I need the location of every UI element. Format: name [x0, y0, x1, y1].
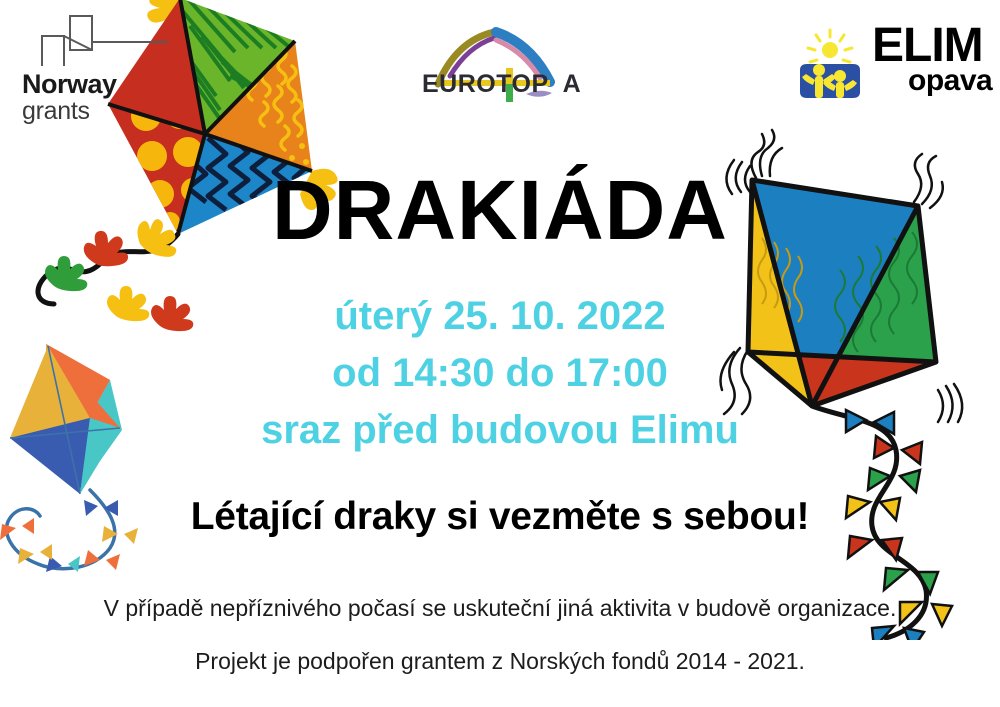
eurotopia-wordmark: EUROTOPA — [422, 70, 581, 99]
logo-elim-opava: ELIM opava — [792, 26, 982, 112]
eurotopia-wordmark-text: EUROTOP — [422, 70, 549, 98]
elim-wordmark: ELIM — [872, 22, 983, 70]
norway-grants-subtitle: grants — [22, 98, 182, 126]
bring-kites-notice: Létající draky si vezměte s sebou! — [0, 497, 1000, 536]
page-title: DRAKIÁDA — [0, 168, 1000, 252]
event-details: úterý 25. 10. 2022 od 14:30 do 17:00 sra… — [0, 288, 1000, 458]
logo-norway-grants: Norway grants — [22, 14, 182, 126]
elim-subtitle: opava — [908, 66, 992, 96]
weather-note: V případě nepříznivého počasí se uskuteč… — [0, 597, 1000, 620]
event-date: úterý 25. 10. 2022 — [0, 288, 1000, 345]
event-place: sraz před budovou Elimu — [0, 402, 1000, 459]
poster-canvas: Norway grants EUROTOPA — [0, 0, 1000, 707]
norway-grants-n-mark — [22, 14, 172, 66]
funding-note: Projekt je podpořen grantem z Norských f… — [0, 650, 1000, 673]
elim-sun-people-mark — [792, 26, 868, 102]
logo-eurotopia: EUROTOPA — [420, 22, 580, 112]
event-time: od 14:30 do 17:00 — [0, 345, 1000, 402]
eurotopia-wordmark-tail: A — [549, 70, 582, 98]
norway-grants-name: Norway — [22, 70, 182, 98]
